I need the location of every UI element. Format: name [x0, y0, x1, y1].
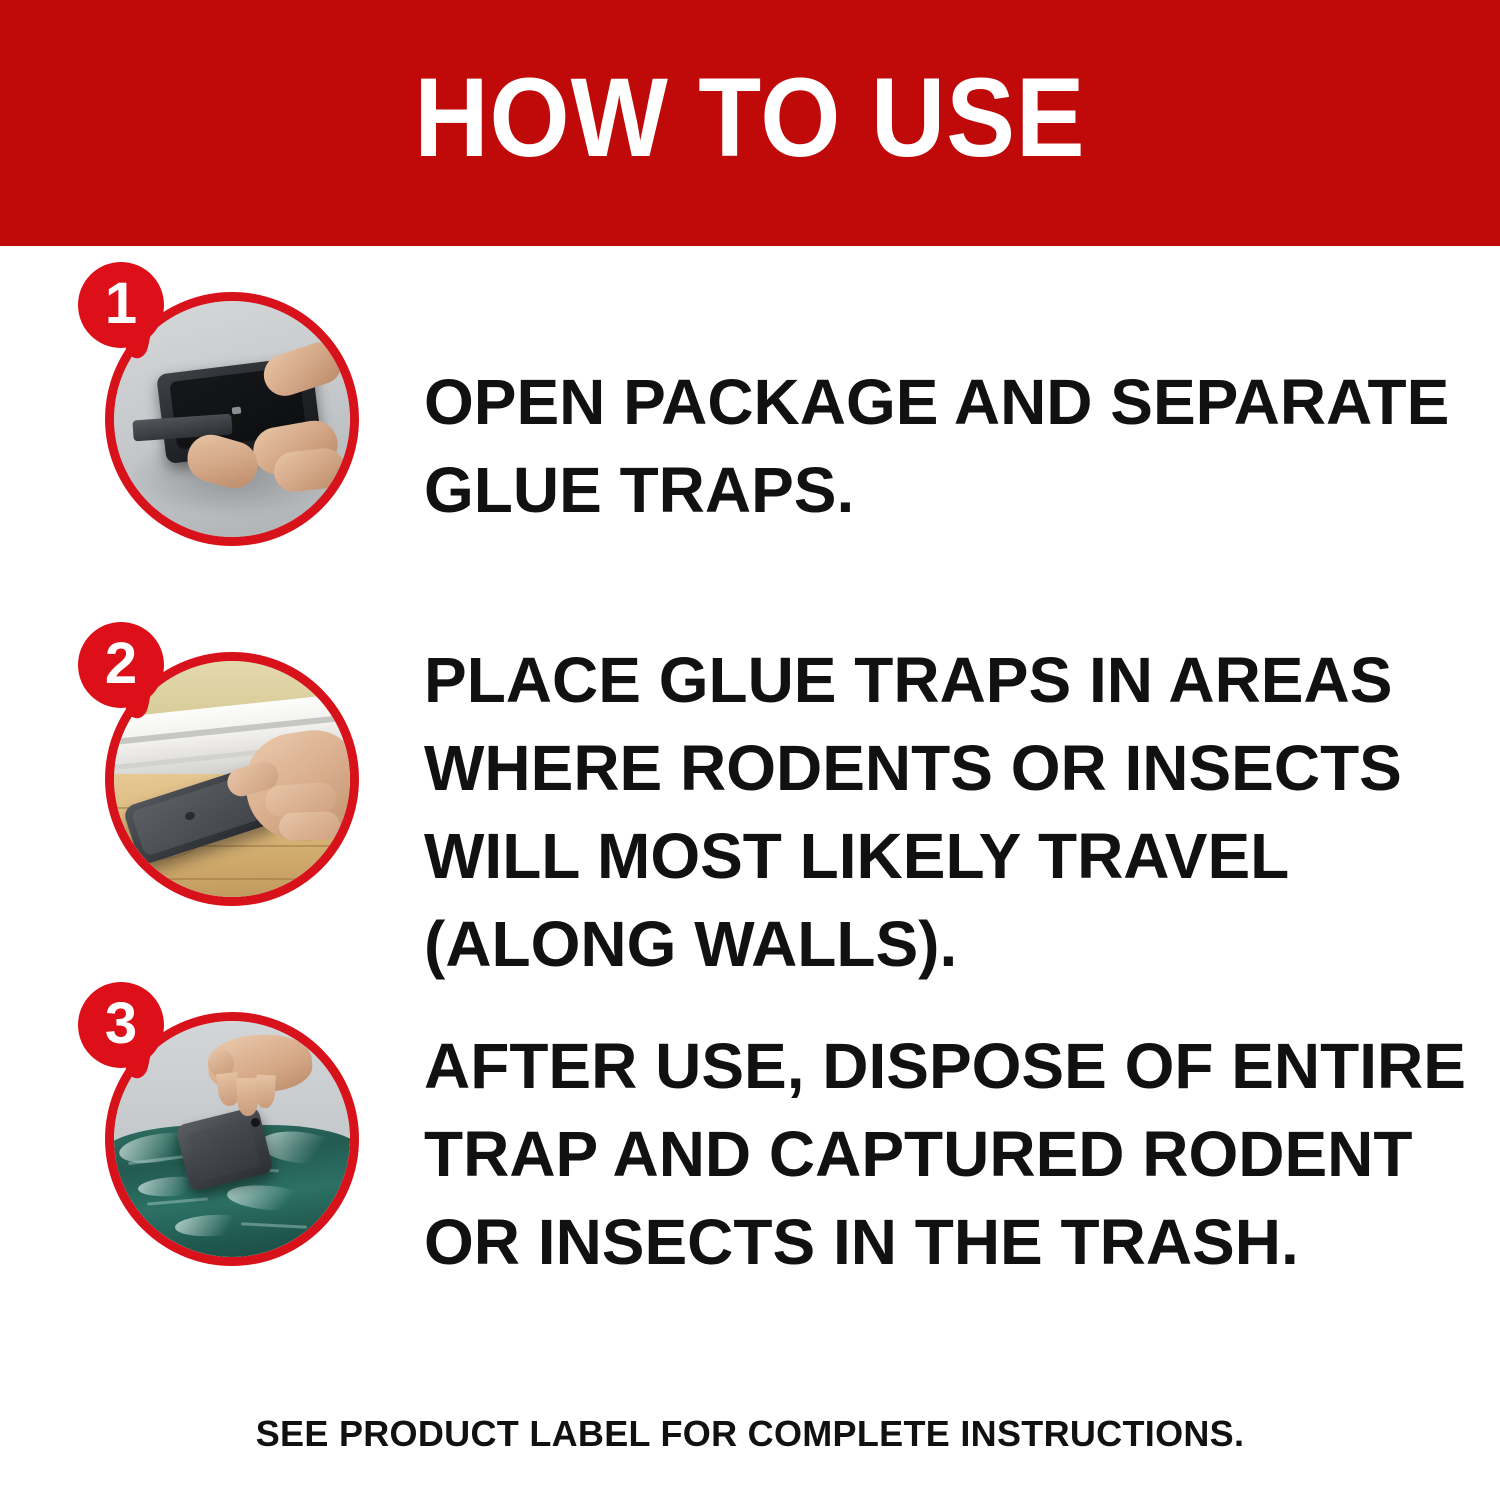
step-3-number: 3 [78, 982, 164, 1068]
step-3-number-badge: 3 [78, 982, 164, 1068]
step-2-line-2: WHERE RODENTS OR INSECTS [424, 724, 1430, 812]
step-item-2: 2 PLACE GLUE TRAPS IN AREAS WHERE RODENT… [0, 606, 1500, 966]
header-banner: HOW TO USE [0, 0, 1500, 246]
step-1-text: OPEN PACKAGE AND SEPARATE GLUE TRAPS. [400, 246, 1500, 534]
step-1-number-badge: 1 [78, 262, 164, 348]
step-1-number: 1 [78, 262, 164, 348]
step-2-number-badge: 2 [78, 622, 164, 708]
page-title-text: HOW TO USE [414, 62, 1085, 174]
finger-lower-second [273, 446, 348, 493]
glue-trap-hole [251, 1118, 260, 1127]
finger-knuckle-2 [279, 811, 341, 841]
step-3-line-1: AFTER USE, DISPOSE OF ENTIRE [424, 1022, 1466, 1110]
step-2-line-3: WILL MOST LIKELY TRAVEL [424, 812, 1430, 900]
step-2-text: PLACE GLUE TRAPS IN AREAS WHERE RODENTS … [400, 606, 1500, 988]
step-2-number: 2 [78, 622, 164, 708]
step-3-figure: 3 [0, 966, 400, 1326]
step-1-line-2: GLUE TRAPS. [424, 446, 1449, 534]
page-title: HOW TO USE [0, 65, 1500, 177]
step-2-line-1: PLACE GLUE TRAPS IN AREAS [424, 636, 1430, 724]
finger-3 [255, 1075, 276, 1109]
step-item-1: 1 OPEN PACKAGE AND SEPARATE GLUE TRAPS. [0, 246, 1500, 606]
footer-note: SEE PRODUCT LABEL FOR COMPLETE INSTRUCTI… [0, 1414, 1500, 1454]
step-3-line-3: OR INSECTS IN THE TRASH. [424, 1198, 1466, 1286]
step-1-figure: 1 [0, 246, 400, 606]
steps-list: 1 OPEN PACKAGE AND SEPARATE GLUE TRAPS. [0, 246, 1500, 1326]
step-1-line-1: OPEN PACKAGE AND SEPARATE [424, 358, 1449, 446]
glue-trap-center-dot [232, 407, 242, 415]
floor-plank-seam-3 [114, 878, 350, 880]
how-to-use-infographic: HOW TO USE [0, 0, 1500, 1500]
step-item-3: 3 AFTER USE, DISPOSE OF ENTIRE TRAP AND … [0, 966, 1500, 1326]
step-3-line-2: TRAP AND CAPTURED RODENT [424, 1110, 1466, 1198]
step-2-figure: 2 [0, 606, 400, 966]
step-3-text: AFTER USE, DISPOSE OF ENTIRE TRAP AND CA… [400, 966, 1500, 1286]
